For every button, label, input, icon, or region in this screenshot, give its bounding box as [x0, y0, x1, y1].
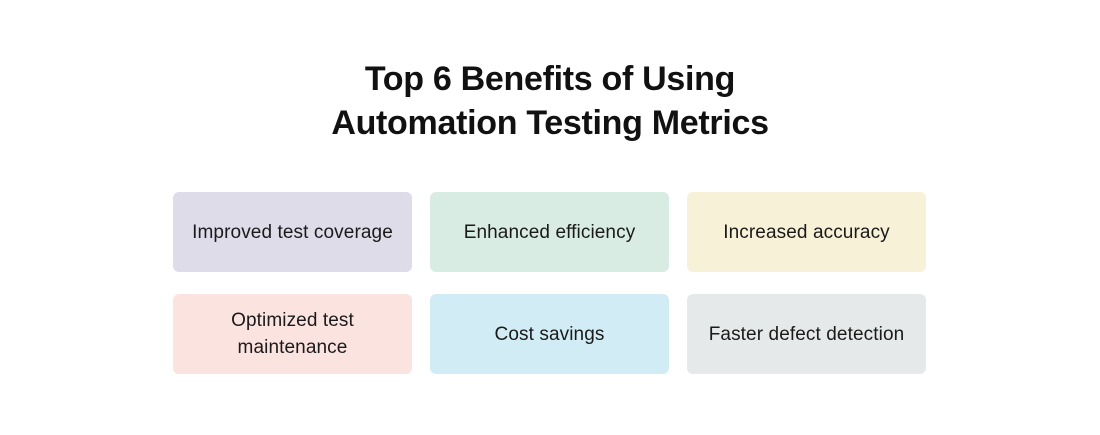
benefit-card-increased-accuracy: Increased accuracy	[687, 192, 926, 272]
benefit-card-label: Cost savings	[495, 321, 605, 348]
benefit-card-label: Faster defect detection	[709, 321, 905, 348]
page-title-line-1: Top 6 Benefits of Using	[0, 57, 1100, 101]
benefit-card-cost-savings: Cost savings	[430, 294, 669, 374]
benefit-card-optimized-test-maintenance: Optimized test maintenance	[173, 294, 412, 374]
benefit-card-label: Increased accuracy	[723, 219, 890, 246]
benefits-grid: Improved test coverage Enhanced efficien…	[173, 192, 927, 374]
page-title-line-2: Automation Testing Metrics	[0, 101, 1100, 145]
benefit-card-label: Improved test coverage	[192, 219, 393, 246]
benefit-card-label: Optimized test maintenance	[187, 307, 398, 361]
benefit-card-improved-test-coverage: Improved test coverage	[173, 192, 412, 272]
benefit-card-faster-defect-detection: Faster defect detection	[687, 294, 926, 374]
infographic-root: Top 6 Benefits of Using Automation Testi…	[0, 0, 1100, 435]
page-title: Top 6 Benefits of Using Automation Testi…	[0, 57, 1100, 145]
benefit-card-label: Enhanced efficiency	[464, 219, 636, 246]
benefit-card-enhanced-efficiency: Enhanced efficiency	[430, 192, 669, 272]
